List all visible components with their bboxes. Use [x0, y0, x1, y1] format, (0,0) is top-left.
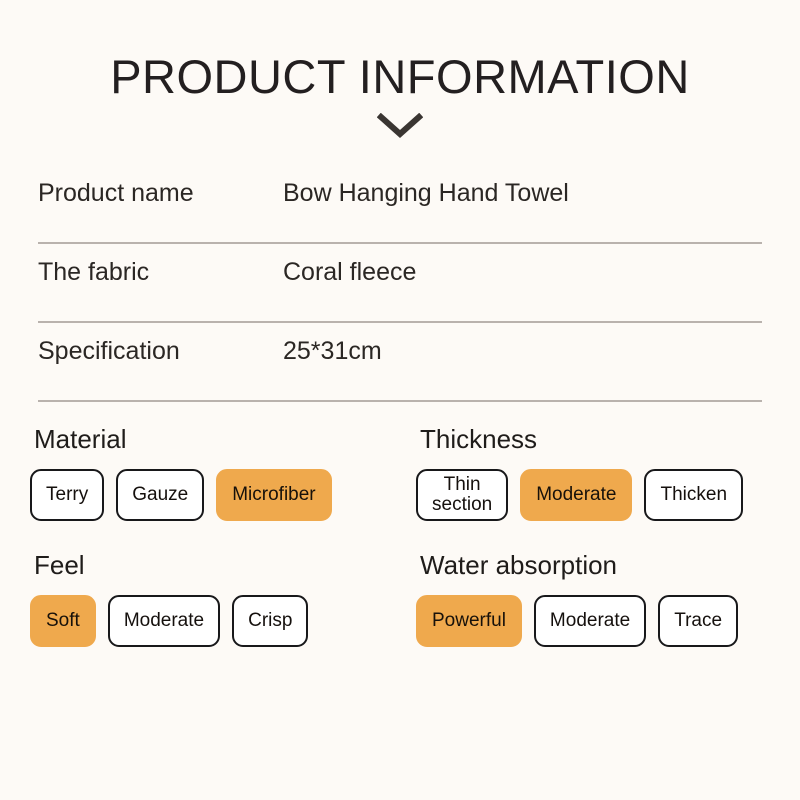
option-group-material: Material Terry Gauze Microfiber	[30, 426, 400, 521]
chip-water-absorption-trace[interactable]: Trace	[658, 595, 738, 647]
spec-table: Product name Bow Hanging Hand Towel The …	[38, 165, 762, 402]
spec-value: 25*31cm	[283, 323, 382, 366]
chip-list-material: Terry Gauze Microfiber	[30, 469, 400, 521]
spec-label: Product name	[38, 165, 283, 208]
chip-list-thickness: Thin section Moderate Thicken	[416, 469, 770, 521]
spec-value: Coral fleece	[283, 244, 416, 287]
chip-water-absorption-powerful[interactable]: Powerful	[416, 595, 522, 647]
chip-feel-moderate[interactable]: Moderate	[108, 595, 220, 647]
group-title: Material	[34, 426, 400, 452]
spec-label: Specification	[38, 323, 283, 366]
chip-feel-soft[interactable]: Soft	[30, 595, 96, 647]
page-header: PRODUCT INFORMATION	[0, 0, 800, 139]
chip-thickness-moderate[interactable]: Moderate	[520, 469, 632, 521]
table-row: Specification 25*31cm	[38, 323, 762, 402]
page-title: PRODUCT INFORMATION	[0, 52, 800, 101]
spec-label: The fabric	[38, 244, 283, 287]
option-group-row: Material Terry Gauze Microfiber Thicknes…	[30, 426, 770, 521]
table-row: Product name Bow Hanging Hand Towel	[38, 165, 762, 244]
chip-thickness-thin-section[interactable]: Thin section	[416, 469, 508, 521]
chevron-down-wrapper	[0, 113, 800, 139]
chip-thickness-thicken[interactable]: Thicken	[644, 469, 743, 521]
option-group-feel: Feel Soft Moderate Crisp	[30, 552, 400, 647]
chip-material-gauze[interactable]: Gauze	[116, 469, 204, 521]
group-title: Feel	[34, 552, 400, 578]
option-group-thickness: Thickness Thin section Moderate Thicken	[400, 426, 770, 521]
chip-list-feel: Soft Moderate Crisp	[30, 595, 400, 647]
spec-value: Bow Hanging Hand Towel	[283, 165, 569, 208]
chip-material-terry[interactable]: Terry	[30, 469, 104, 521]
chip-feel-crisp[interactable]: Crisp	[232, 595, 308, 647]
chip-material-microfiber[interactable]: Microfiber	[216, 469, 331, 521]
chevron-down-icon	[377, 113, 423, 139]
chip-list-water-absorption: Powerful Moderate Trace	[416, 595, 770, 647]
option-groups: Material Terry Gauze Microfiber Thicknes…	[0, 426, 800, 647]
group-title: Thickness	[420, 426, 770, 452]
chip-water-absorption-moderate[interactable]: Moderate	[534, 595, 646, 647]
group-title: Water absorption	[420, 552, 770, 578]
table-row: The fabric Coral fleece	[38, 244, 762, 323]
option-group-row: Feel Soft Moderate Crisp Water absorptio…	[30, 552, 770, 647]
option-group-water-absorption: Water absorption Powerful Moderate Trace	[400, 552, 770, 647]
